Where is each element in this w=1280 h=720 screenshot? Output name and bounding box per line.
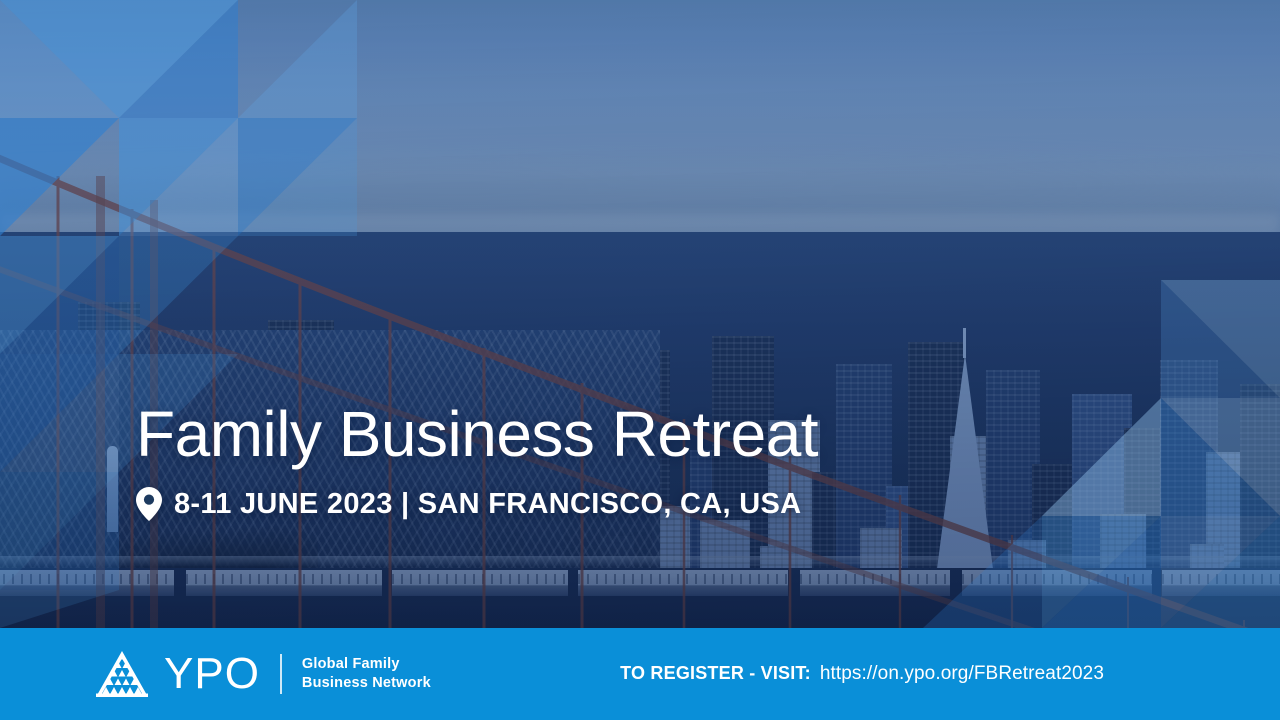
headline-block: Family Business Retreat 8-11 JUNE 2023 |… — [136, 402, 1036, 521]
event-date-location: 8-11 JUNE 2023 | SAN FRANCISCO, CA, USA — [174, 488, 801, 521]
footer-bar: YPO Global Family Business Network TO RE… — [0, 628, 1280, 720]
poster-canvas: Family Business Retreat 8-11 JUNE 2023 |… — [0, 0, 1280, 720]
brand-subtitle-line1: Global Family — [302, 655, 431, 674]
page-title: Family Business Retreat — [136, 402, 1036, 467]
ypo-triangle-logo-icon — [96, 651, 148, 697]
register-label: TO REGISTER - VISIT: — [620, 663, 811, 684]
brand-subtitle-line2: Business Network — [302, 674, 431, 693]
ypo-brand-lockup: YPO Global Family Business Network — [96, 651, 431, 697]
event-details-row: 8-11 JUNE 2023 | SAN FRANCISCO, CA, USA — [136, 487, 1036, 521]
triangle-pattern-overlay — [0, 0, 1280, 720]
brand-subtitle: Global Family Business Network — [302, 655, 431, 693]
ypo-wordmark: YPO — [164, 652, 260, 696]
brand-divider — [280, 654, 282, 694]
map-pin-icon — [136, 487, 162, 521]
register-url[interactable]: https://on.ypo.org/FBRetreat2023 — [820, 663, 1104, 685]
register-block: TO REGISTER - VISIT: https://on.ypo.org/… — [620, 663, 1104, 685]
